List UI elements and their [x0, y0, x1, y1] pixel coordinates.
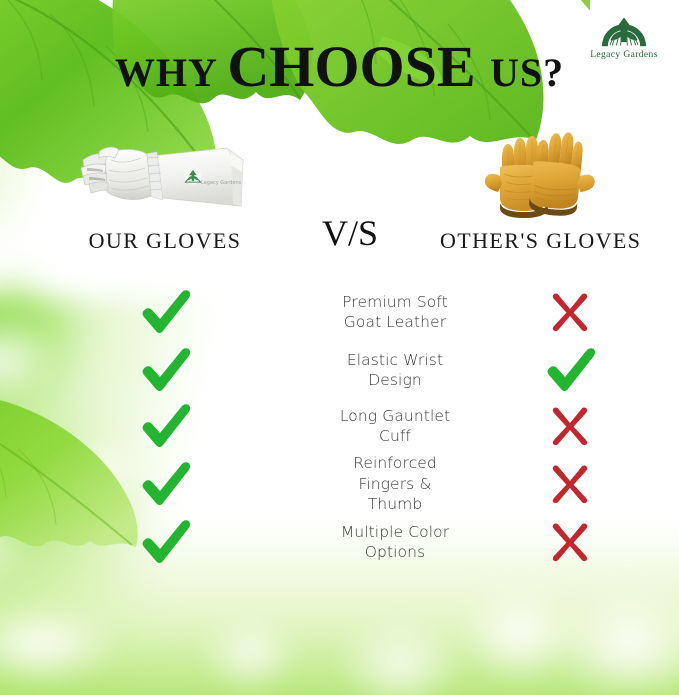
our-gloves-product-image: Legacy Gardens [75, 138, 265, 220]
why-choose-us-poster: WHY CHOOSE US? Legacy Gardens [0, 0, 679, 695]
feature-label: Reinforced Fingers & Thumb [330, 453, 460, 514]
comparison-table: Premium Soft Goat Leather Elastic Wrist … [0, 282, 679, 570]
our-gloves-mark-cell [0, 462, 330, 506]
others-gloves-mark-cell [460, 406, 679, 446]
green-check-icon [139, 462, 191, 506]
our-gloves-mark-cell [0, 520, 330, 564]
others-gloves-column-label: OTHER'S GLOVES [440, 228, 640, 254]
others-gloves-product-image [480, 132, 598, 224]
our-gloves-mark-cell [0, 290, 330, 334]
red-cross-icon [550, 522, 590, 562]
comparison-row: Multiple Color Options [0, 514, 679, 570]
feature-label: Multiple Color Options [330, 522, 460, 563]
brand-logo: Legacy Gardens [581, 14, 667, 60]
title-word-why: WHY [115, 50, 228, 95]
svg-text:Legacy Gardens: Legacy Gardens [201, 180, 242, 186]
feature-label: Premium Soft Goat Leather [330, 292, 460, 333]
green-check-icon [139, 348, 191, 392]
red-cross-icon [550, 406, 590, 446]
red-cross-icon [550, 292, 590, 332]
legacy-gardens-emblem-icon [598, 14, 650, 48]
comparison-row: Reinforced Fingers & Thumb [0, 454, 679, 514]
others-gloves-mark-cell [460, 348, 679, 392]
comparison-row: Premium Soft Goat Leather [0, 282, 679, 342]
green-check-icon [544, 348, 596, 392]
others-gloves-mark-cell [460, 522, 679, 562]
versus-label: V/S [295, 212, 405, 254]
green-check-icon [139, 290, 191, 334]
our-gloves-mark-cell [0, 348, 330, 392]
our-gloves-mark-cell [0, 404, 330, 448]
others-gloves-mark-cell [460, 464, 679, 504]
title-word-choose: CHOOSE [227, 34, 490, 99]
green-check-icon [139, 404, 191, 448]
comparison-row: Elastic Wrist Design [0, 342, 679, 398]
brand-name: Legacy Gardens [581, 50, 667, 60]
title-word-us: US? [490, 50, 564, 95]
comparison-row: Long Gauntlet Cuff [0, 398, 679, 454]
green-check-icon [139, 520, 191, 564]
red-cross-icon [550, 464, 590, 504]
feature-label: Elastic Wrist Design [330, 350, 460, 391]
our-gloves-column-label: OUR GLOVES [0, 228, 330, 254]
page-title: WHY CHOOSE US? [0, 38, 679, 96]
others-gloves-mark-cell [460, 292, 679, 332]
feature-label: Long Gauntlet Cuff [330, 406, 460, 447]
